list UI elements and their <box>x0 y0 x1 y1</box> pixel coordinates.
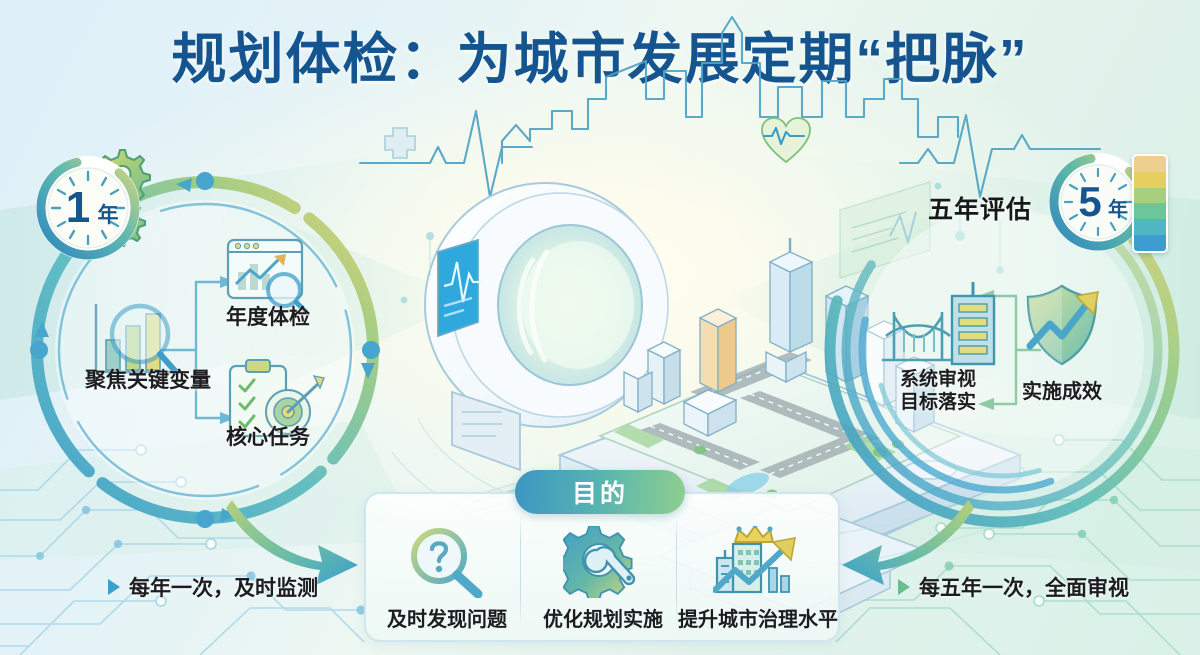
purpose-item-improve-governance[interactable]: 提升城市治理水平 <box>682 510 834 632</box>
purpose-item-label: 提升城市治理水平 <box>678 603 838 632</box>
right-clock-number: 5 <box>1078 178 1101 225</box>
vital-signs-monitor <box>438 240 483 336</box>
purpose-item-label: 优化规划实施 <box>543 603 663 632</box>
right-item-label-systemic-review: 系统审视 目标落实 <box>868 368 1008 414</box>
purpose-item-label: 及时发现问题 <box>387 603 507 632</box>
left-caption-text: 每年一次，及时监测 <box>129 572 318 602</box>
left-source-label: 聚焦关键变量 <box>48 368 248 394</box>
purpose-item-optimize-implementation[interactable]: 优化规划实施 <box>528 510 678 632</box>
right-caption-text: 每五年一次，全面审视 <box>919 572 1129 602</box>
left-branch-label-annual-checkup: 年度体检 <box>198 305 338 331</box>
gear-wrench-icon <box>563 525 643 599</box>
cycle-node-right <box>362 341 380 359</box>
right-clock-unit: 年 <box>1108 197 1128 221</box>
legend-band <box>1134 172 1166 188</box>
cycle-node-bottom <box>196 510 214 528</box>
right-item-label-line2: 目标落实 <box>868 391 1008 414</box>
crown-icon <box>735 526 773 542</box>
infographic-canvas: 规划体检：为城市发展定期“把脉” <box>0 0 1200 655</box>
purpose-badge: 目的 <box>515 470 685 514</box>
dashboard-analytics-magnifier-icon <box>228 240 306 312</box>
legend-band <box>1134 203 1166 219</box>
medical-cross-icon <box>385 128 415 158</box>
five-year-heading: 五年评估 <box>900 190 1060 226</box>
cycle-arrow-top <box>176 178 192 192</box>
cycle-arrow-bottom <box>220 508 236 522</box>
legend-band <box>1134 188 1166 204</box>
left-clock-unit: 年 <box>98 203 119 227</box>
page-title: 规划体检：为城市发展定期“把脉” <box>0 28 1200 90</box>
heart-pulse-icon <box>762 118 810 162</box>
right-caption: 每五年一次，全面审视 <box>898 572 1129 602</box>
color-scale-legend <box>1132 154 1168 253</box>
left-branch-label-core-task: 核心任务 <box>198 425 338 451</box>
cycle-node-top <box>196 172 214 190</box>
left-clock-number: 1 <box>66 183 90 232</box>
triangle-right-icon <box>898 579 910 595</box>
legend-band <box>1134 156 1166 172</box>
cycle-arrow-right <box>361 363 375 379</box>
left-caption: 每年一次，及时监测 <box>108 572 318 602</box>
legend-band <box>1134 219 1166 235</box>
left-clock-badge: 1 年 <box>32 152 144 269</box>
cycle-arrow-left <box>35 321 49 337</box>
legend-band <box>1134 235 1166 251</box>
bar-chart-magnifier-icon <box>96 304 176 372</box>
bridge-building-icon <box>882 282 994 364</box>
city-crown-growth-icon <box>713 525 803 599</box>
purpose-item-find-problems[interactable]: 及时发现问题 <box>372 510 522 632</box>
triangle-right-icon <box>108 579 120 595</box>
right-item-label-effectiveness: 实施成效 <box>998 380 1126 404</box>
shield-growth-arrow-icon <box>1028 286 1098 364</box>
right-item-label-line1: 系统审视 <box>868 368 1008 391</box>
magnifier-question-icon <box>408 525 486 599</box>
cycle-node-left <box>30 341 48 359</box>
